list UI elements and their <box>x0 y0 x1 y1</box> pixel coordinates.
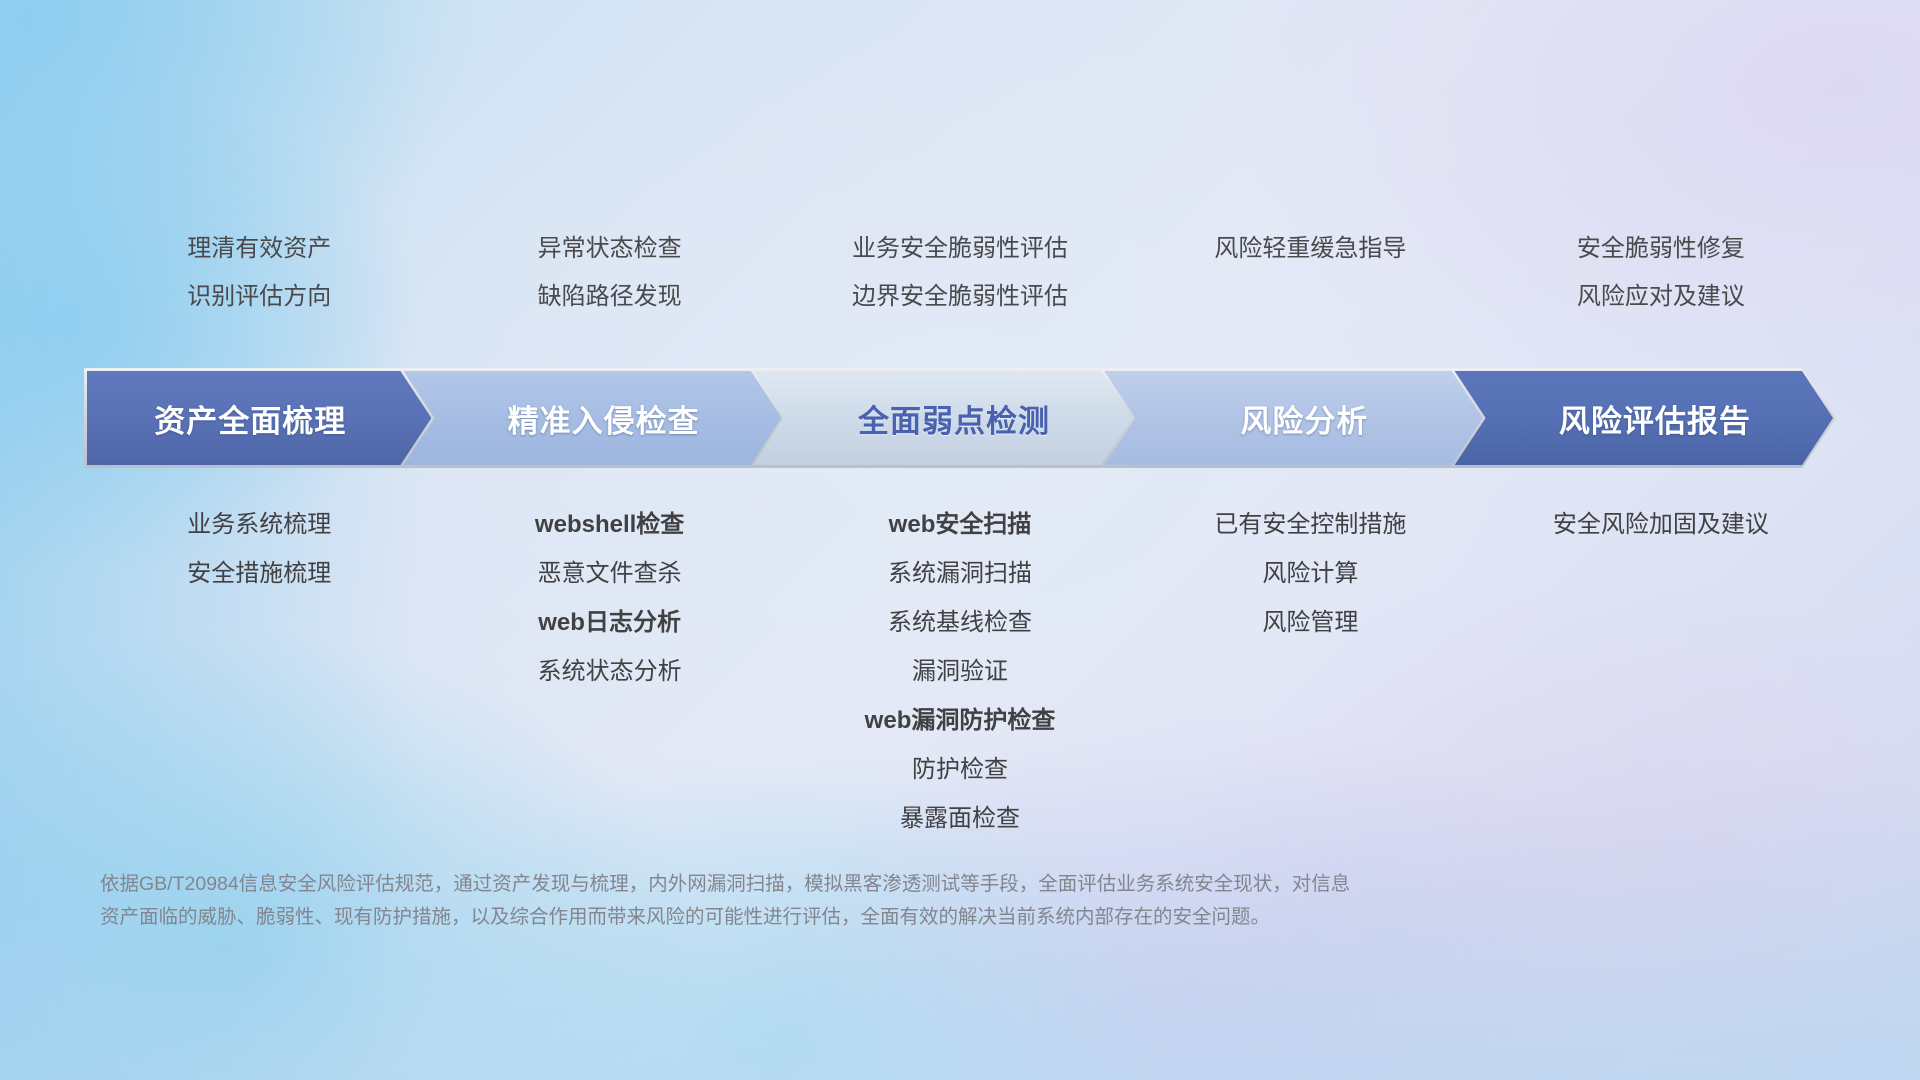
activity-item: 风险计算 <box>1135 549 1485 598</box>
stage-chevron-risk-analysis[interactable]: 风险分析 <box>1135 368 1485 468</box>
activity-item: 已有安全控制措施 <box>1135 500 1485 549</box>
stage-chevron-asset-survey[interactable]: 资产全面梳理 <box>84 368 434 468</box>
stage-label: 精准入侵检查 <box>508 396 700 441</box>
stage-chevron-weakness-detection[interactable]: 全面弱点检测 <box>785 368 1135 468</box>
activity-item: 安全措施梳理 <box>84 549 434 598</box>
top-outcomes-intrusion-check: 异常状态检查 缺陷路径发现 <box>434 225 784 321</box>
caption-line: 依据GB/T20984信息安全风险评估规范，通过资产发现与梳理，内外网漏洞扫描，… <box>100 868 1560 901</box>
bottom-activities-weakness-detection: web安全扫描 系统漏洞扫描 系统基线检查 漏洞验证 web漏洞防护检查 防护检… <box>785 500 1135 843</box>
activity-item: 安全风险加固及建议 <box>1486 500 1836 549</box>
stage-label: 风险分析 <box>1240 396 1368 441</box>
bottom-activities-row: 业务系统梳理 安全措施梳理 webshell检查 恶意文件查杀 web日志分析 … <box>0 500 1920 843</box>
top-outcome-item: 异常状态检查 <box>434 225 784 273</box>
caption-line: 资产面临的威胁、脆弱性、现有防护措施，以及综合作用而带来风险的可能性进行评估，全… <box>100 901 1560 934</box>
activity-item: 风险管理 <box>1135 598 1485 647</box>
bottom-activities-risk-report: 安全风险加固及建议 <box>1486 500 1836 549</box>
top-outcome-item: 识别评估方向 <box>84 273 434 321</box>
activity-item: 系统基线检查 <box>785 598 1135 647</box>
top-outcome-item: 风险轻重缓急指导 <box>1135 225 1485 273</box>
activity-item: 暴露面检查 <box>785 794 1135 843</box>
bottom-activities-intrusion-check: webshell检查 恶意文件查杀 web日志分析 系统状态分析 <box>434 500 784 696</box>
stage-chevron-risk-report[interactable]: 风险评估报告 <box>1486 368 1836 468</box>
top-outcomes-asset-survey: 理清有效资产 识别评估方向 <box>84 225 434 321</box>
top-outcomes-risk-analysis: 风险轻重缓急指导 <box>1135 225 1485 321</box>
activity-item: web日志分析 <box>434 598 784 647</box>
top-outcome-item: 理清有效资产 <box>84 225 434 273</box>
stage-label: 全面弱点检测 <box>858 396 1050 441</box>
top-outcomes-weakness-detection: 业务安全脆弱性评估 边界安全脆弱性评估 <box>785 225 1135 321</box>
bottom-activities-risk-analysis: 已有安全控制措施 风险计算 风险管理 <box>1135 500 1485 647</box>
activity-item: 业务系统梳理 <box>84 500 434 549</box>
slide-canvas: 理清有效资产 识别评估方向 异常状态检查 缺陷路径发现 业务安全脆弱性评估 边界… <box>0 0 1920 1080</box>
top-outcome-item: 安全脆弱性修复 <box>1486 225 1836 273</box>
activity-item: 防护检查 <box>785 745 1135 794</box>
footer-caption: 依据GB/T20984信息安全风险评估规范，通过资产发现与梳理，内外网漏洞扫描，… <box>0 868 1660 934</box>
top-outcomes-risk-report: 安全脆弱性修复 风险应对及建议 <box>1486 225 1836 321</box>
top-outcome-item: 业务安全脆弱性评估 <box>785 225 1135 273</box>
top-outcomes-row: 理清有效资产 识别评估方向 异常状态检查 缺陷路径发现 业务安全脆弱性评估 边界… <box>0 225 1920 321</box>
activity-item: web漏洞防护检查 <box>785 696 1135 745</box>
activity-item: web安全扫描 <box>785 500 1135 549</box>
top-outcome-item: 风险应对及建议 <box>1486 273 1836 321</box>
bottom-activities-asset-survey: 业务系统梳理 安全措施梳理 <box>84 500 434 598</box>
stage-label: 风险评估报告 <box>1559 396 1751 441</box>
activity-item: 漏洞验证 <box>785 647 1135 696</box>
activity-item: 系统状态分析 <box>434 647 784 696</box>
activity-item: 系统漏洞扫描 <box>785 549 1135 598</box>
process-chevron-banner: 资产全面梳理 精准入侵检查 全面弱点检测 风险分析 风险评估报告 <box>0 368 1920 468</box>
stage-label: 资产全面梳理 <box>154 396 346 441</box>
activity-item: 恶意文件查杀 <box>434 549 784 598</box>
top-outcome-item: 缺陷路径发现 <box>434 273 784 321</box>
stage-chevron-intrusion-check[interactable]: 精准入侵检查 <box>434 368 784 468</box>
top-outcome-item: 边界安全脆弱性评估 <box>785 273 1135 321</box>
activity-item: webshell检查 <box>434 500 784 549</box>
